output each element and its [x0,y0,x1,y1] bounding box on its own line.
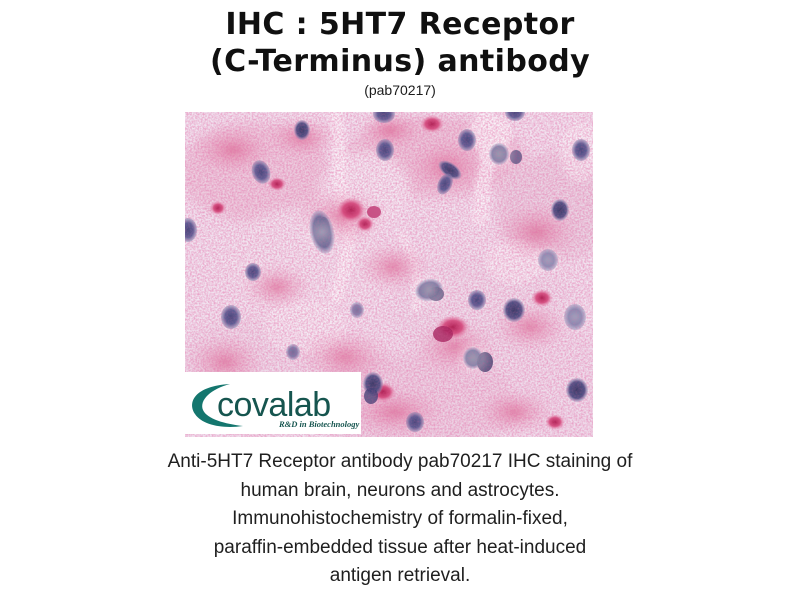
caption-line-3: Immunohistochemistry of formalin-fixed, [0,505,800,534]
title-line-2: (C-Terminus) antibody [0,43,800,80]
caption-line-4: paraffin-embedded tissue after heat-indu… [0,534,800,563]
figure-caption: Anti-5HT7 Receptor antibody pab70217 IHC… [0,448,800,591]
caption-line-5: antigen retrieval. [0,562,800,591]
caption-line-2: human brain, neurons and astrocytes. [0,477,800,506]
covalab-logo: covalab R&D in Biotechnology [185,372,361,434]
logo-tagline: R&D in Biotechnology [278,419,360,429]
catalog-number: (pab70217) [0,81,800,99]
title-line-1: IHC : 5HT7 Receptor [0,6,800,43]
figure-container: covalab R&D in Biotechnology [185,112,593,437]
page-title: IHC : 5HT7 Receptor (C-Terminus) antibod… [0,0,800,99]
covalab-logo-svg: covalab R&D in Biotechnology [185,372,361,434]
caption-line-1: Anti-5HT7 Receptor antibody pab70217 IHC… [0,448,800,477]
